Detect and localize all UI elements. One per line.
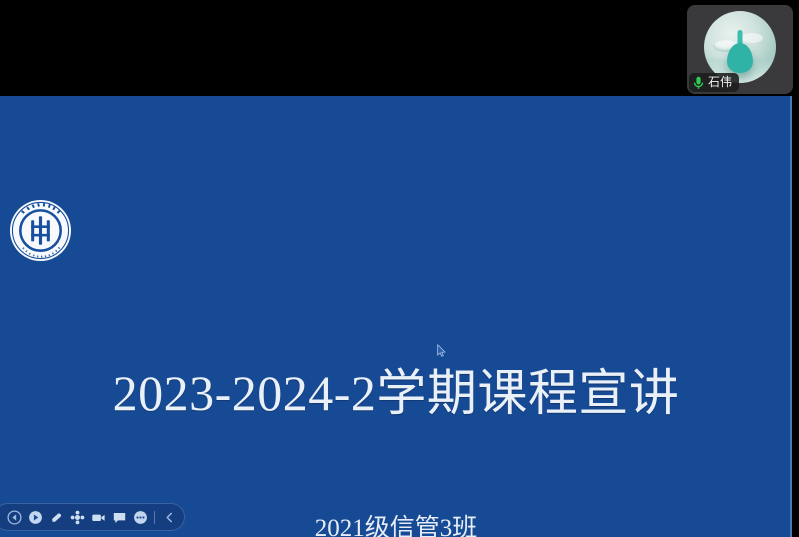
slide-right-edge bbox=[790, 96, 792, 537]
collapse-toolbar-button[interactable] bbox=[160, 508, 178, 526]
participant-video-tile[interactable]: 石伟 bbox=[687, 5, 793, 94]
ellipsis-icon bbox=[133, 510, 148, 525]
chat-button[interactable] bbox=[110, 508, 128, 526]
video-camera-icon bbox=[91, 510, 106, 525]
avatar-droplet bbox=[727, 43, 753, 73]
circle-left-arrow-icon bbox=[7, 510, 22, 525]
university-seal-logo bbox=[9, 197, 72, 268]
slide-title: 2023-2024-2学期课程宣讲 bbox=[0, 364, 792, 422]
previous-slide-button[interactable] bbox=[5, 508, 23, 526]
toolbar-divider bbox=[154, 511, 155, 524]
pen-icon bbox=[49, 510, 64, 525]
circle-play-icon bbox=[28, 510, 43, 525]
laser-pointer-button[interactable] bbox=[68, 508, 86, 526]
annotate-pen-button[interactable] bbox=[47, 508, 65, 526]
play-button[interactable] bbox=[26, 508, 44, 526]
mouse-cursor bbox=[437, 344, 446, 357]
avatar-ripple-right bbox=[741, 33, 763, 43]
video-button[interactable] bbox=[89, 508, 107, 526]
chevron-left-icon bbox=[162, 510, 177, 525]
participant-name-label: 石伟 bbox=[708, 73, 732, 92]
meeting-floating-toolbar[interactable] bbox=[0, 503, 185, 531]
microphone-icon bbox=[693, 76, 704, 90]
screen-root: 2023-2024-2学期课程宣讲 2021级信管3班 2024年1月17日 石… bbox=[0, 0, 799, 537]
participant-name-chip: 石伟 bbox=[689, 73, 739, 92]
pointer-target-icon bbox=[70, 510, 85, 525]
chat-bubble-icon bbox=[112, 510, 127, 525]
more-options-button[interactable] bbox=[131, 508, 149, 526]
shared-slide[interactable]: 2023-2024-2学期课程宣讲 2021级信管3班 2024年1月17日 bbox=[0, 96, 792, 537]
